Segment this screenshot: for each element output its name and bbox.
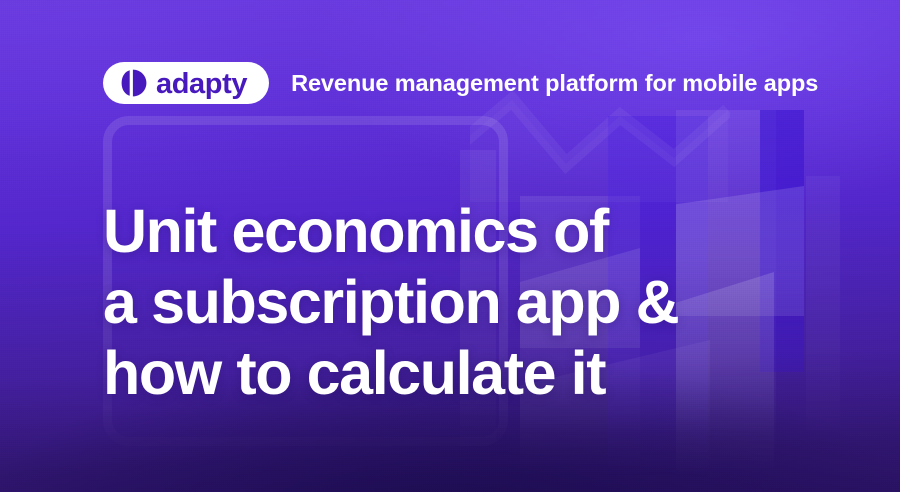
adapty-leaf-mark-icon [121,69,147,97]
adapty-logo-pill[interactable]: adapty [103,62,269,104]
adapty-wordmark: adapty [156,70,247,99]
headline-line-1: Unit economics of [103,196,678,267]
brand-row: adapty Revenue management platform for m… [103,62,818,104]
headline-line-3: how to calculate it [103,338,678,409]
headline-line-2: a subscription app & [103,267,678,338]
cover-banner: adapty Revenue management platform for m… [0,0,900,492]
tagline: Revenue management platform for mobile a… [291,70,818,97]
banner-content: adapty Revenue management platform for m… [0,0,900,492]
page-title: Unit economics of a subscription app & h… [103,196,678,409]
